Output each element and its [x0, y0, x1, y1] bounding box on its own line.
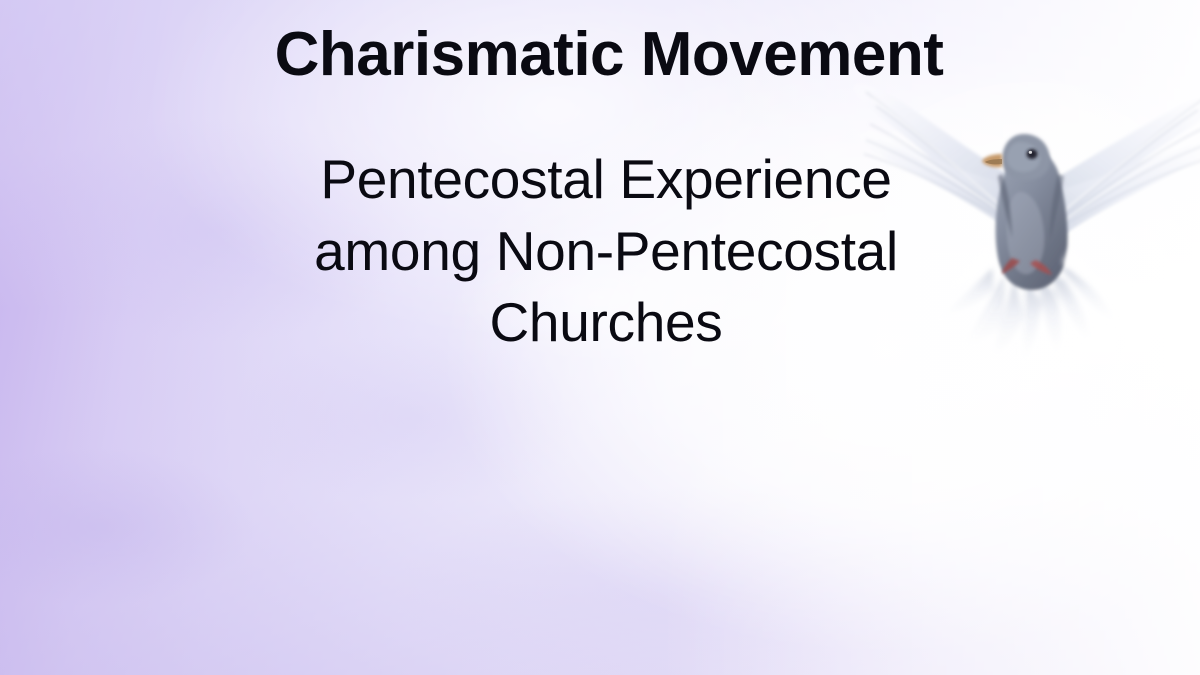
- slide-subtitle-line-1: Pentecostal Experience: [12, 144, 1200, 216]
- slide-subtitle-line-3: Churches: [12, 287, 1200, 359]
- slide-subtitle: Pentecostal Experience among Non-Penteco…: [0, 144, 1200, 359]
- slide-subtitle-line-2: among Non-Pentecostal: [12, 216, 1200, 288]
- presentation-slide: Charismatic Movement Pentecostal Experie…: [0, 0, 1200, 675]
- slide-title: Charismatic Movement: [0, 20, 1200, 89]
